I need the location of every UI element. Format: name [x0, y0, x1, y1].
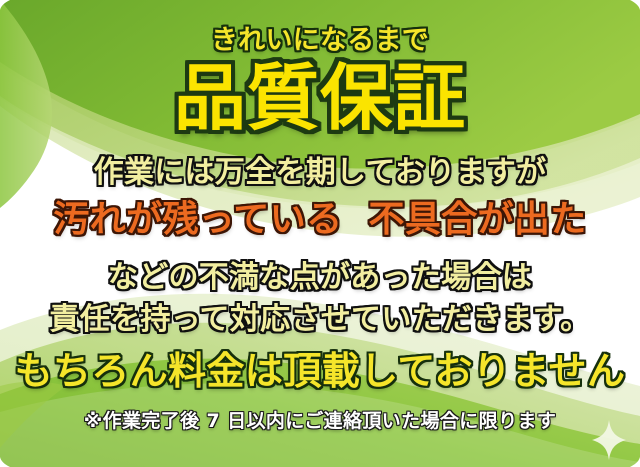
- headline-kicker: きれいになるまで: [0, 27, 640, 54]
- body-line-2: などの不満な点があった場合は: [0, 263, 640, 293]
- footnote: ※作業完了後 7 日以内にご連絡頂いた場合に限ります: [0, 412, 640, 431]
- body-line-4: もちろん料金は頂載しておりません: [0, 352, 640, 390]
- problem-row: 汚れが残っている不具合が出た: [0, 202, 640, 238]
- page-title: 品質保証: [0, 62, 640, 134]
- body-line-1: 作業には万全を期しておりますが: [0, 158, 640, 188]
- problem-item-2: 不具合が出た: [368, 202, 586, 238]
- problem-item-1: 汚れが残っている: [53, 202, 342, 238]
- quality-guarantee-poster: きれいになるまで 品質保証 作業には万全を期しておりますが 汚れが残っている不具…: [0, 0, 640, 467]
- body-line-3: 責任を持って対応させていただきます。: [0, 305, 640, 335]
- poster-text-stack: きれいになるまで 品質保証 作業には万全を期しておりますが 汚れが残っている不具…: [0, 0, 640, 467]
